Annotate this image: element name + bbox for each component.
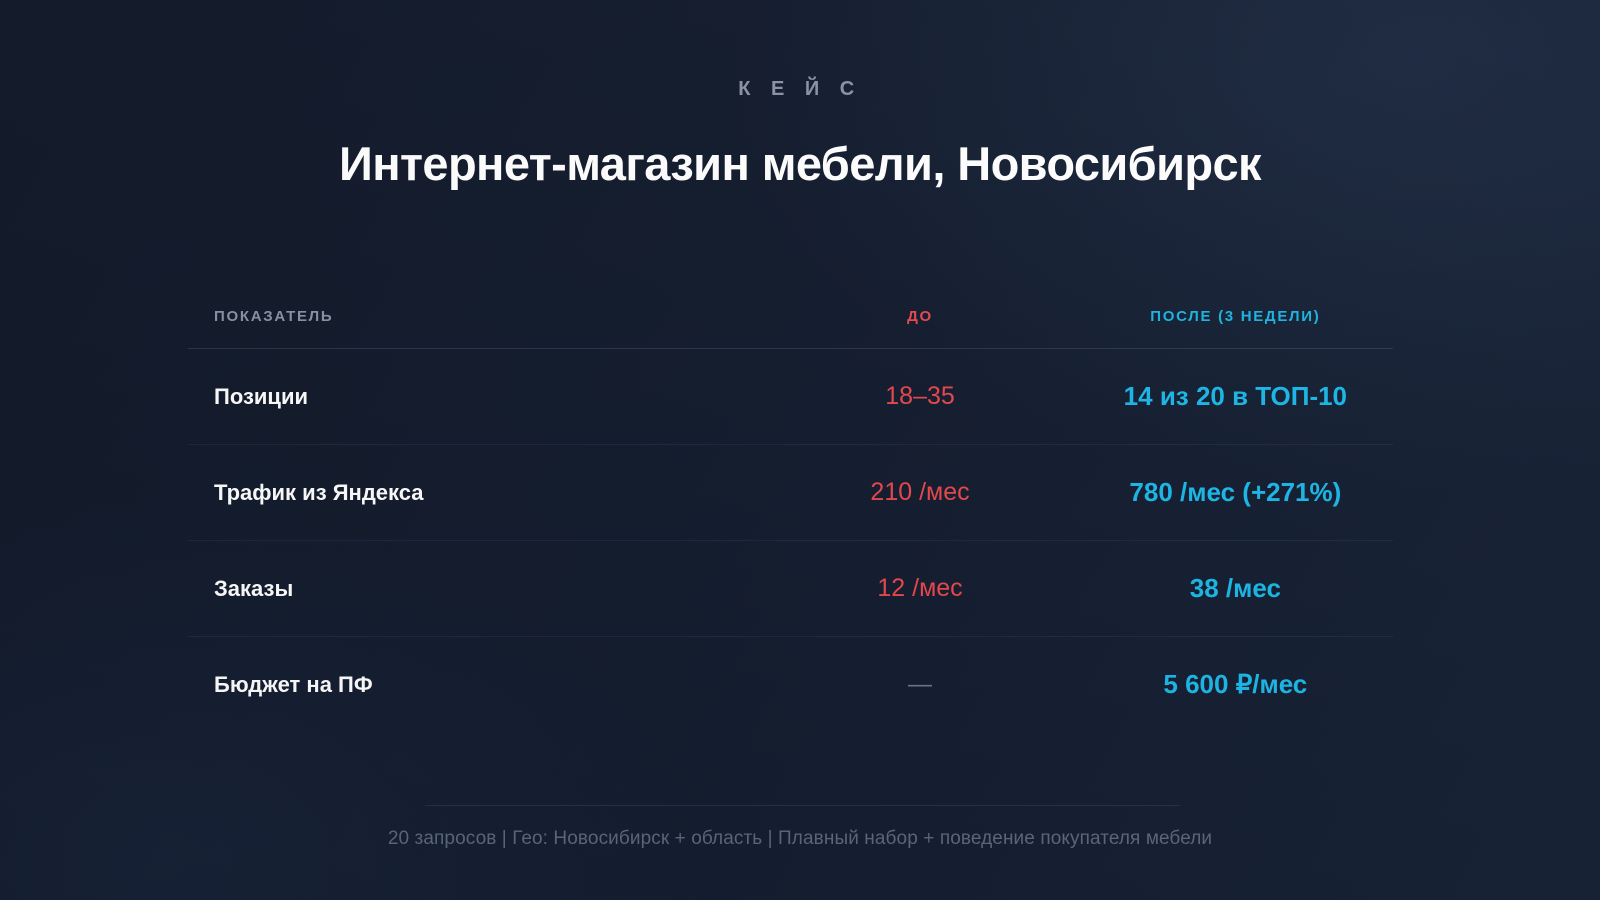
cell-metric: Бюджет на ПФ bbox=[188, 672, 754, 698]
comparison-table: ПОКАЗАТЕЛЬ ДО ПОСЛЕ (3 НЕДЕЛИ) Позиции 1… bbox=[188, 290, 1393, 732]
table-row: Бюджет на ПФ — 5 600 ₽/мес bbox=[188, 637, 1393, 732]
table-header-row: ПОКАЗАТЕЛЬ ДО ПОСЛЕ (3 НЕДЕЛИ) bbox=[188, 290, 1393, 342]
table-row: Позиции 18–35 14 из 20 в ТОП-10 bbox=[188, 349, 1393, 444]
cell-after: 14 из 20 в ТОП-10 bbox=[1086, 381, 1393, 412]
case-study-slide: К Е Й С Интернет-магазин мебели, Новосиб… bbox=[0, 0, 1600, 900]
page-title: Интернет-магазин мебели, Новосибирск bbox=[0, 136, 1600, 191]
cell-after: 38 /мес bbox=[1086, 573, 1393, 604]
table-row: Трафик из Яндекса 210 /мес 780 /мес (+27… bbox=[188, 445, 1393, 540]
column-header-metric: ПОКАЗАТЕЛЬ bbox=[188, 308, 754, 325]
cell-metric: Трафик из Яндекса bbox=[188, 480, 754, 506]
eyebrow-label: К Е Й С bbox=[0, 78, 1600, 101]
table-row: Заказы 12 /мес 38 /мес bbox=[188, 541, 1393, 636]
cell-metric: Позиции bbox=[188, 384, 754, 410]
cell-before: — bbox=[754, 671, 1085, 699]
cell-after: 5 600 ₽/мес bbox=[1086, 669, 1393, 700]
cell-before: 12 /мес bbox=[754, 574, 1085, 603]
footer-divider bbox=[425, 805, 1180, 806]
footnote-text: 20 запросов | Гео: Новосибирск + область… bbox=[0, 828, 1600, 850]
cell-metric: Заказы bbox=[188, 576, 754, 602]
cell-after: 780 /мес (+271%) bbox=[1086, 477, 1393, 508]
column-header-after: ПОСЛЕ (3 НЕДЕЛИ) bbox=[1086, 308, 1393, 325]
cell-before: 18–35 bbox=[754, 382, 1085, 411]
column-header-before: ДО bbox=[754, 308, 1085, 325]
cell-before: 210 /мес bbox=[754, 478, 1085, 507]
